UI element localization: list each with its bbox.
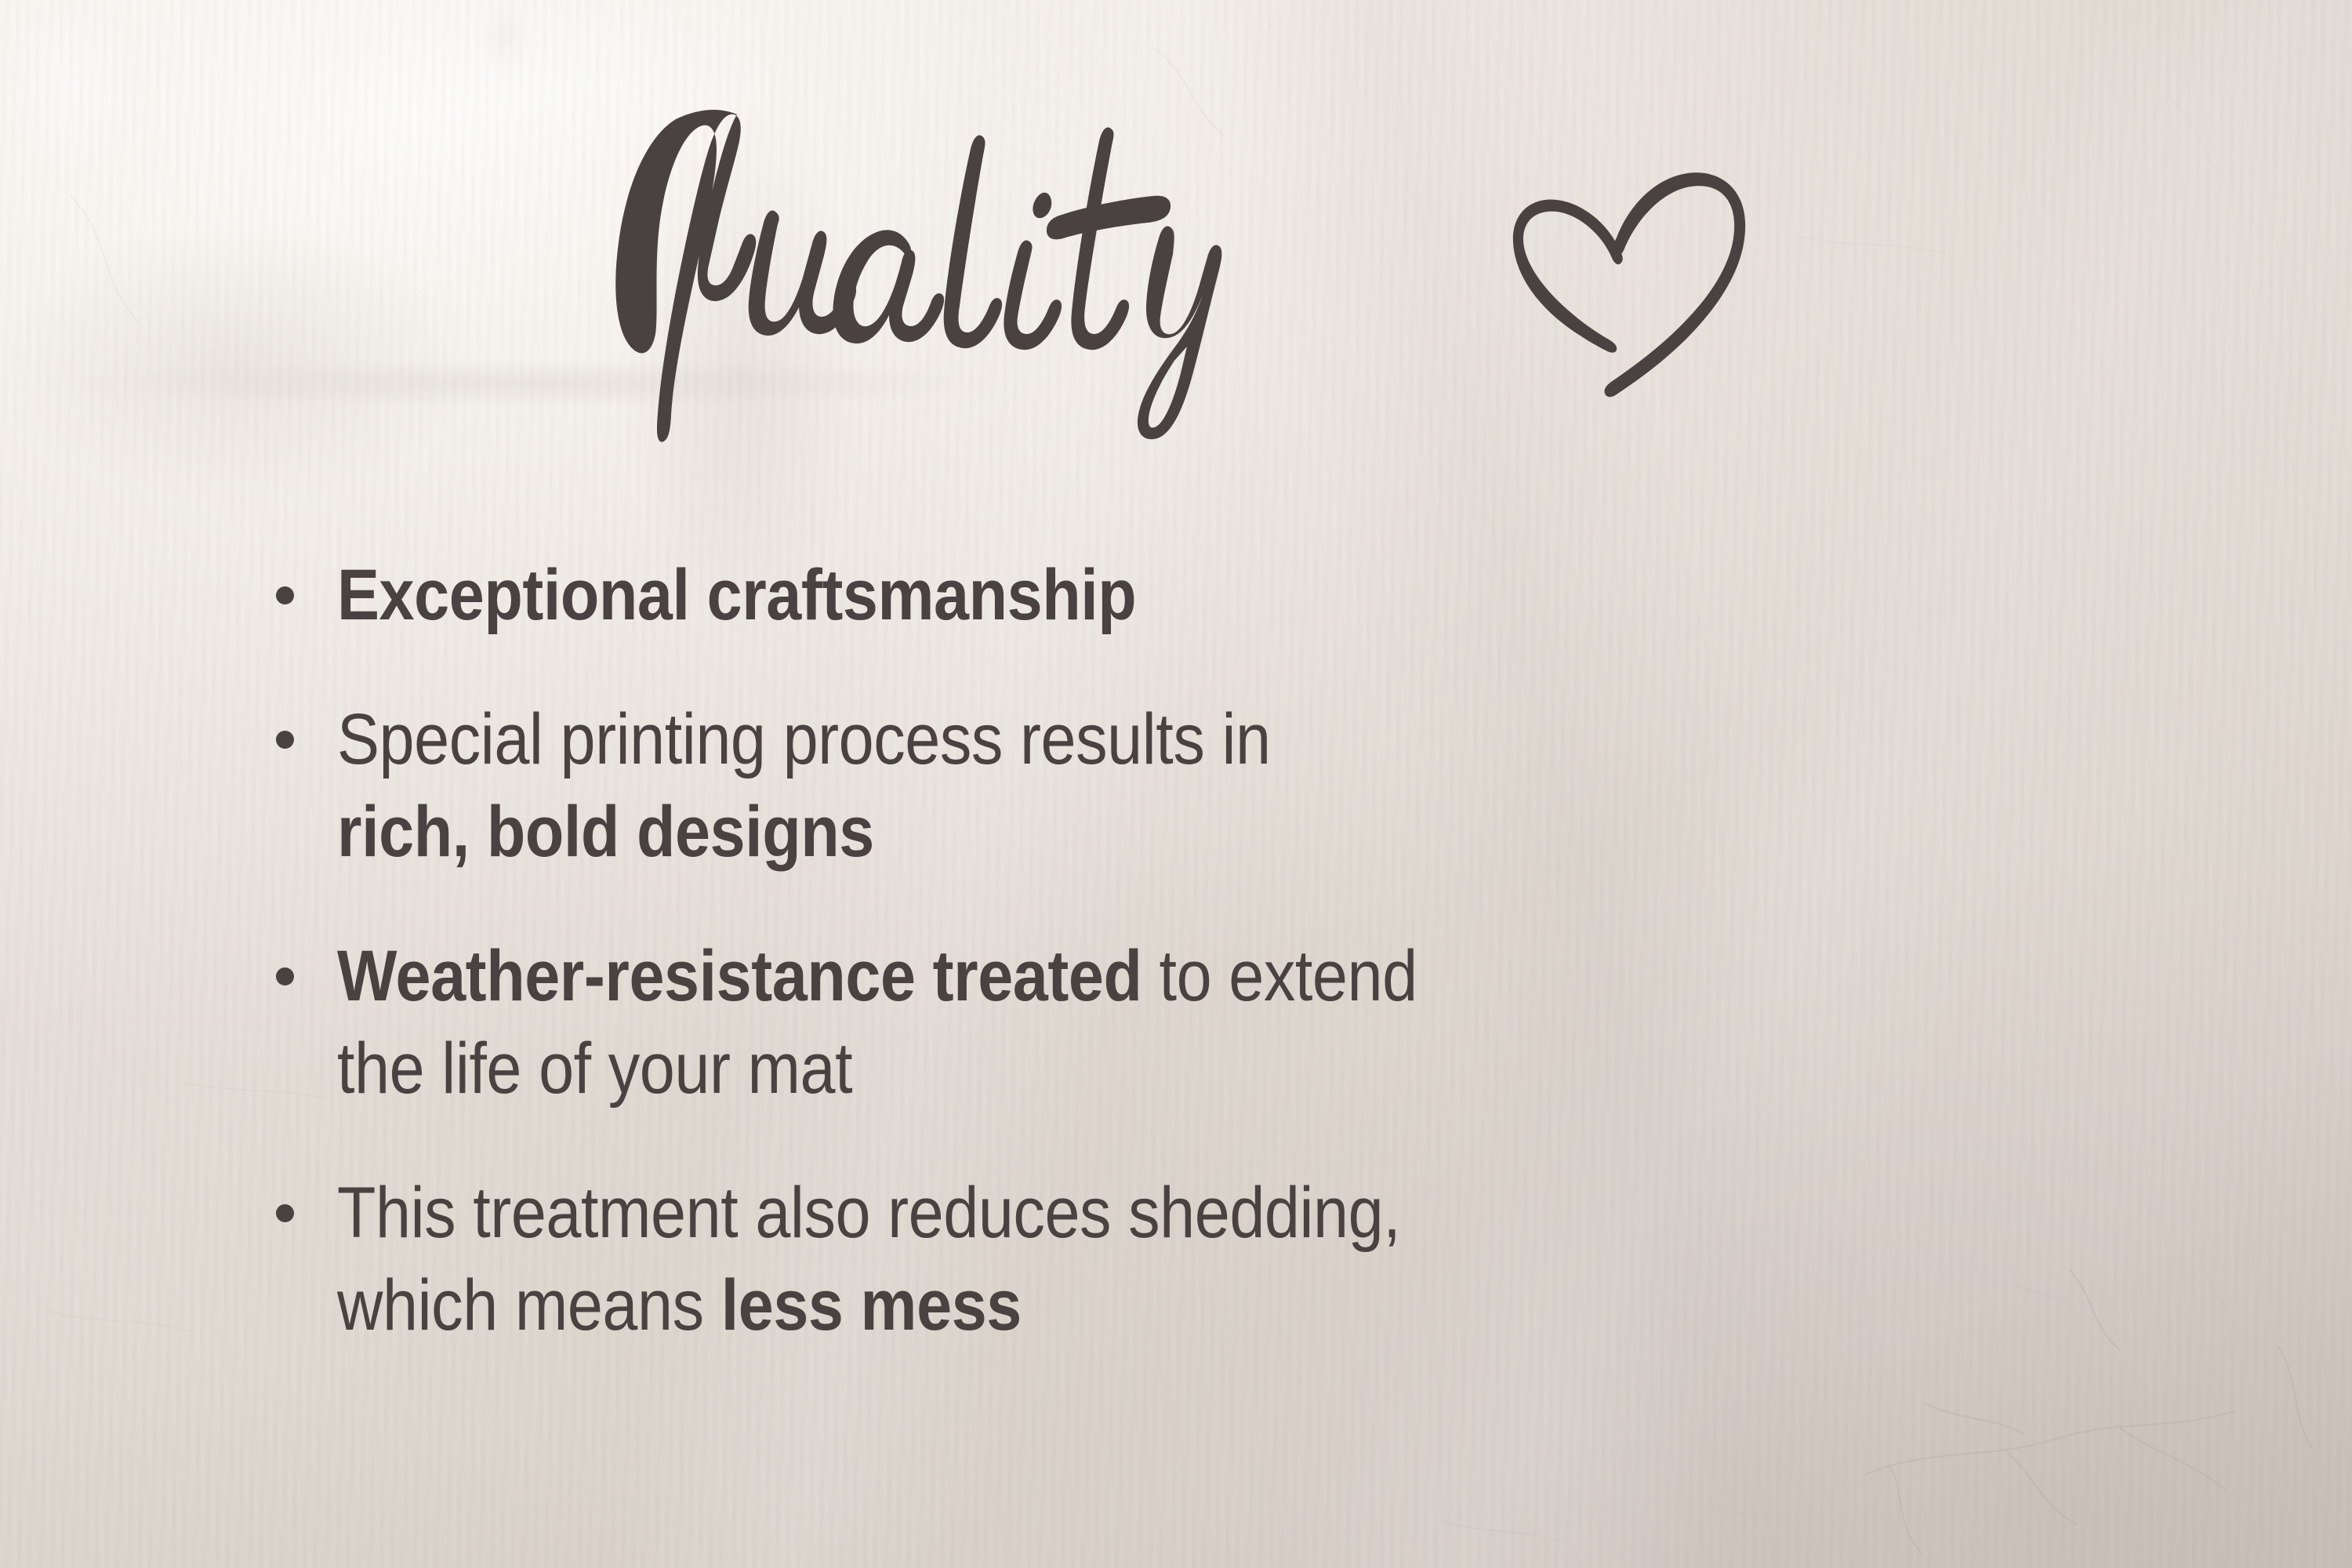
bullet-text-regular: Special printing process results in: [337, 699, 1271, 779]
bullet-text-bold: less mess: [721, 1265, 1022, 1345]
feature-bullet-list: Exceptional craftsmanship Special printi…: [267, 549, 2148, 1352]
list-item: This treatment also reduces shedding, wh…: [267, 1167, 2148, 1352]
bullet-text-regular: to extend: [1142, 936, 1417, 1016]
page-title: Quality: [0, 93, 2352, 461]
bullet-text-bold: rich, bold designs: [337, 792, 874, 872]
bullet-dot-icon: [276, 731, 294, 749]
bullet-dot-icon: [276, 967, 294, 985]
list-item: Exceptional craftsmanship: [267, 549, 2148, 641]
heart-outline-icon: [1502, 150, 1761, 408]
bullet-line: Special printing process results in: [337, 693, 2148, 786]
bullet-line: Exceptional craftsmanship: [337, 549, 2148, 641]
bullet-text-regular: This treatment also reduces shedding,: [337, 1173, 1400, 1253]
headline-script-quality: Quality: [591, 108, 1446, 445]
bullet-line: rich, bold designs: [337, 786, 2148, 878]
bullet-dot-icon: [276, 1204, 294, 1222]
bullet-text-regular: the life of your mat: [337, 1029, 852, 1109]
bullet-text-bold: Weather-resistance treated: [337, 936, 1142, 1016]
bullet-line: which means less mess: [337, 1259, 2148, 1352]
bullet-text-bold: Exceptional craftsmanship: [337, 555, 1136, 635]
quality-info-card: Quality: [0, 0, 2352, 1568]
bullet-line: Weather-resistance treated to extend: [337, 930, 2148, 1022]
bullet-line: the life of your mat: [337, 1022, 2148, 1115]
bullet-line: This treatment also reduces shedding,: [337, 1167, 2148, 1259]
list-item: Special printing process results in rich…: [267, 693, 2148, 878]
bullet-text-regular: which means: [337, 1265, 721, 1345]
bullet-dot-icon: [276, 586, 294, 604]
list-item: Weather-resistance treated to extend the…: [267, 930, 2148, 1115]
